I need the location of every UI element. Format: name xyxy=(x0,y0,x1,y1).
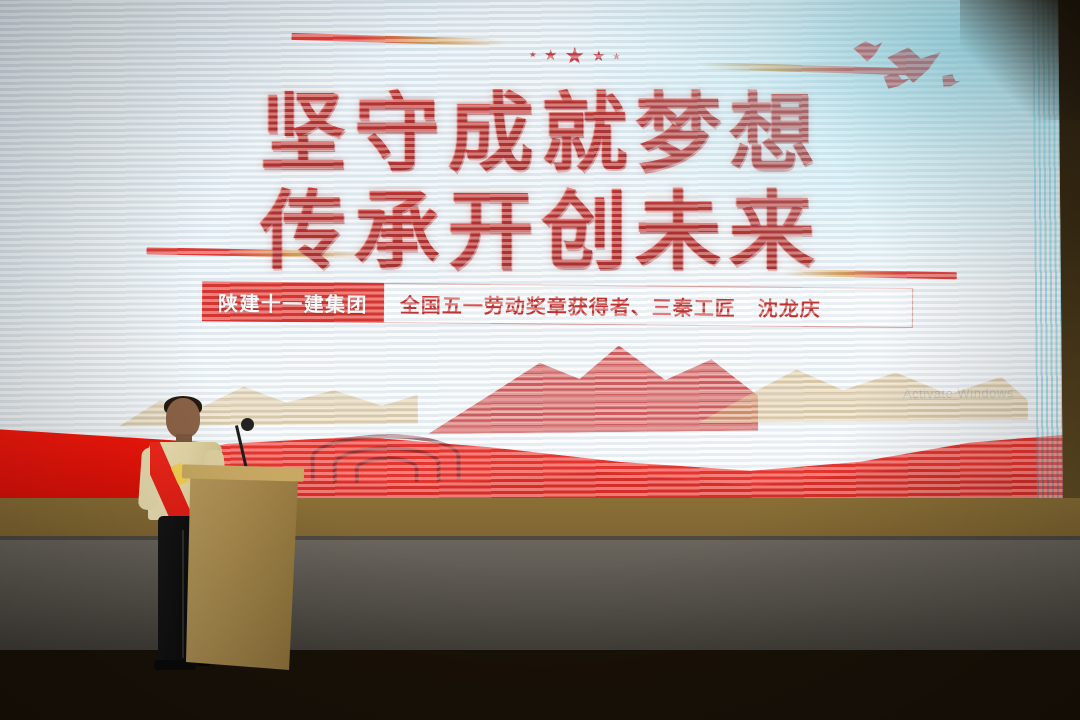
organization-badge: 陕建十一建集团 xyxy=(202,281,384,323)
arch-bridge-icon xyxy=(298,425,489,483)
audience-area: 代表席 代表席 xyxy=(0,548,1080,720)
honoree-title: 全国五一劳动奖章获得者、三秦工匠 xyxy=(400,289,736,321)
speaker-head xyxy=(166,398,200,438)
honoree-name: 沈龙庆 xyxy=(758,292,821,322)
room-shadow-corner xyxy=(960,0,1080,120)
slide-subtitle-strip: 陕建十一建集团 全国五一劳动奖章获得者、三秦工匠 沈龙庆 xyxy=(202,281,913,328)
microphone-icon xyxy=(241,418,254,431)
honoree-bar: 全国五一劳动奖章获得者、三秦工匠 沈龙庆 xyxy=(384,283,914,328)
slide-title-line-2: 传承开创未来 xyxy=(9,160,1063,286)
slide-title-block: 坚守成就梦想 传承开创未来 xyxy=(0,0,1060,285)
bridge-arc xyxy=(354,456,418,483)
screenshot-root: ★ ★ ★ ★ ★ 坚守成就梦想 传承开创未来 陕建十一建集团 全国五一劳动奖章… xyxy=(0,0,1080,720)
windows-activation-watermark: Activate Windows xyxy=(903,385,1053,401)
